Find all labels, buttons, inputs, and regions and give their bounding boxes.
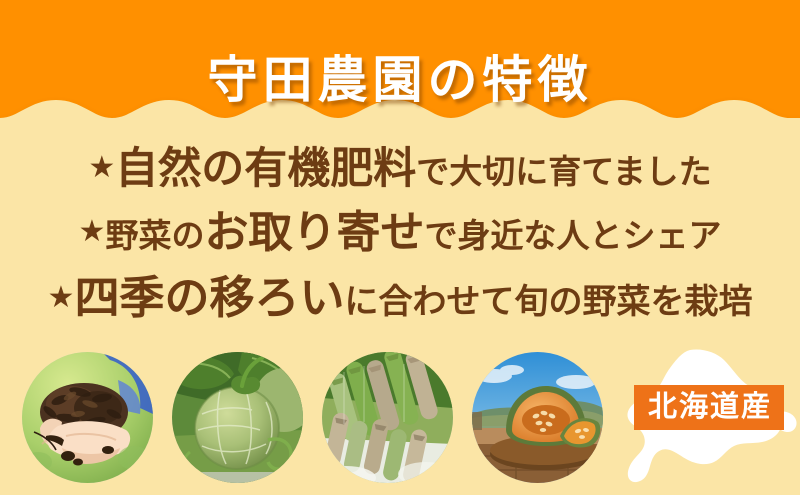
page-title: 守田農園の特徴 xyxy=(0,50,800,110)
melon-on-vine-photo xyxy=(172,352,303,483)
hokkaido-badge: 北海道産 xyxy=(634,385,784,430)
feature-1-emphasis: 自然の有機肥料 xyxy=(115,144,416,194)
feature-3-rest: に合わせて旬の野菜を栽培 xyxy=(344,282,752,322)
cut-melon-photo xyxy=(472,352,603,483)
feature-3-emphasis: 四季の移ろい xyxy=(74,271,344,324)
feature-1-rest: で大切に育てました xyxy=(416,152,711,191)
feature-line-2: ★野菜のお取り寄せで身近な人とシェア xyxy=(0,211,800,255)
feature-2-lead: 野菜の xyxy=(105,216,204,255)
feature-2-rest: で身近な人とシェア xyxy=(424,216,721,255)
feature-2-emphasis: お取り寄せ xyxy=(204,207,424,258)
feature-line-3: ★四季の移ろいに合わせて旬の野菜を栽培 xyxy=(0,275,800,320)
star-icon: ★ xyxy=(79,214,106,249)
hokkaido-origin-mark: 北海道産 xyxy=(612,348,800,495)
promo-banner: 守田農園の特徴 ★自然の有機肥料で大切に育てました ★野菜のお取り寄せで身近な人… xyxy=(0,0,800,495)
asparagus-photo xyxy=(322,352,453,483)
feature-line-1: ★自然の有機肥料で大切に育てました xyxy=(0,148,800,191)
star-icon: ★ xyxy=(48,280,75,315)
feature-list: ★自然の有機肥料で大切に育てました ★野菜のお取り寄せで身近な人とシェア ★四季… xyxy=(0,148,800,340)
star-icon: ★ xyxy=(88,150,115,185)
compost-in-hands-photo xyxy=(22,352,153,483)
